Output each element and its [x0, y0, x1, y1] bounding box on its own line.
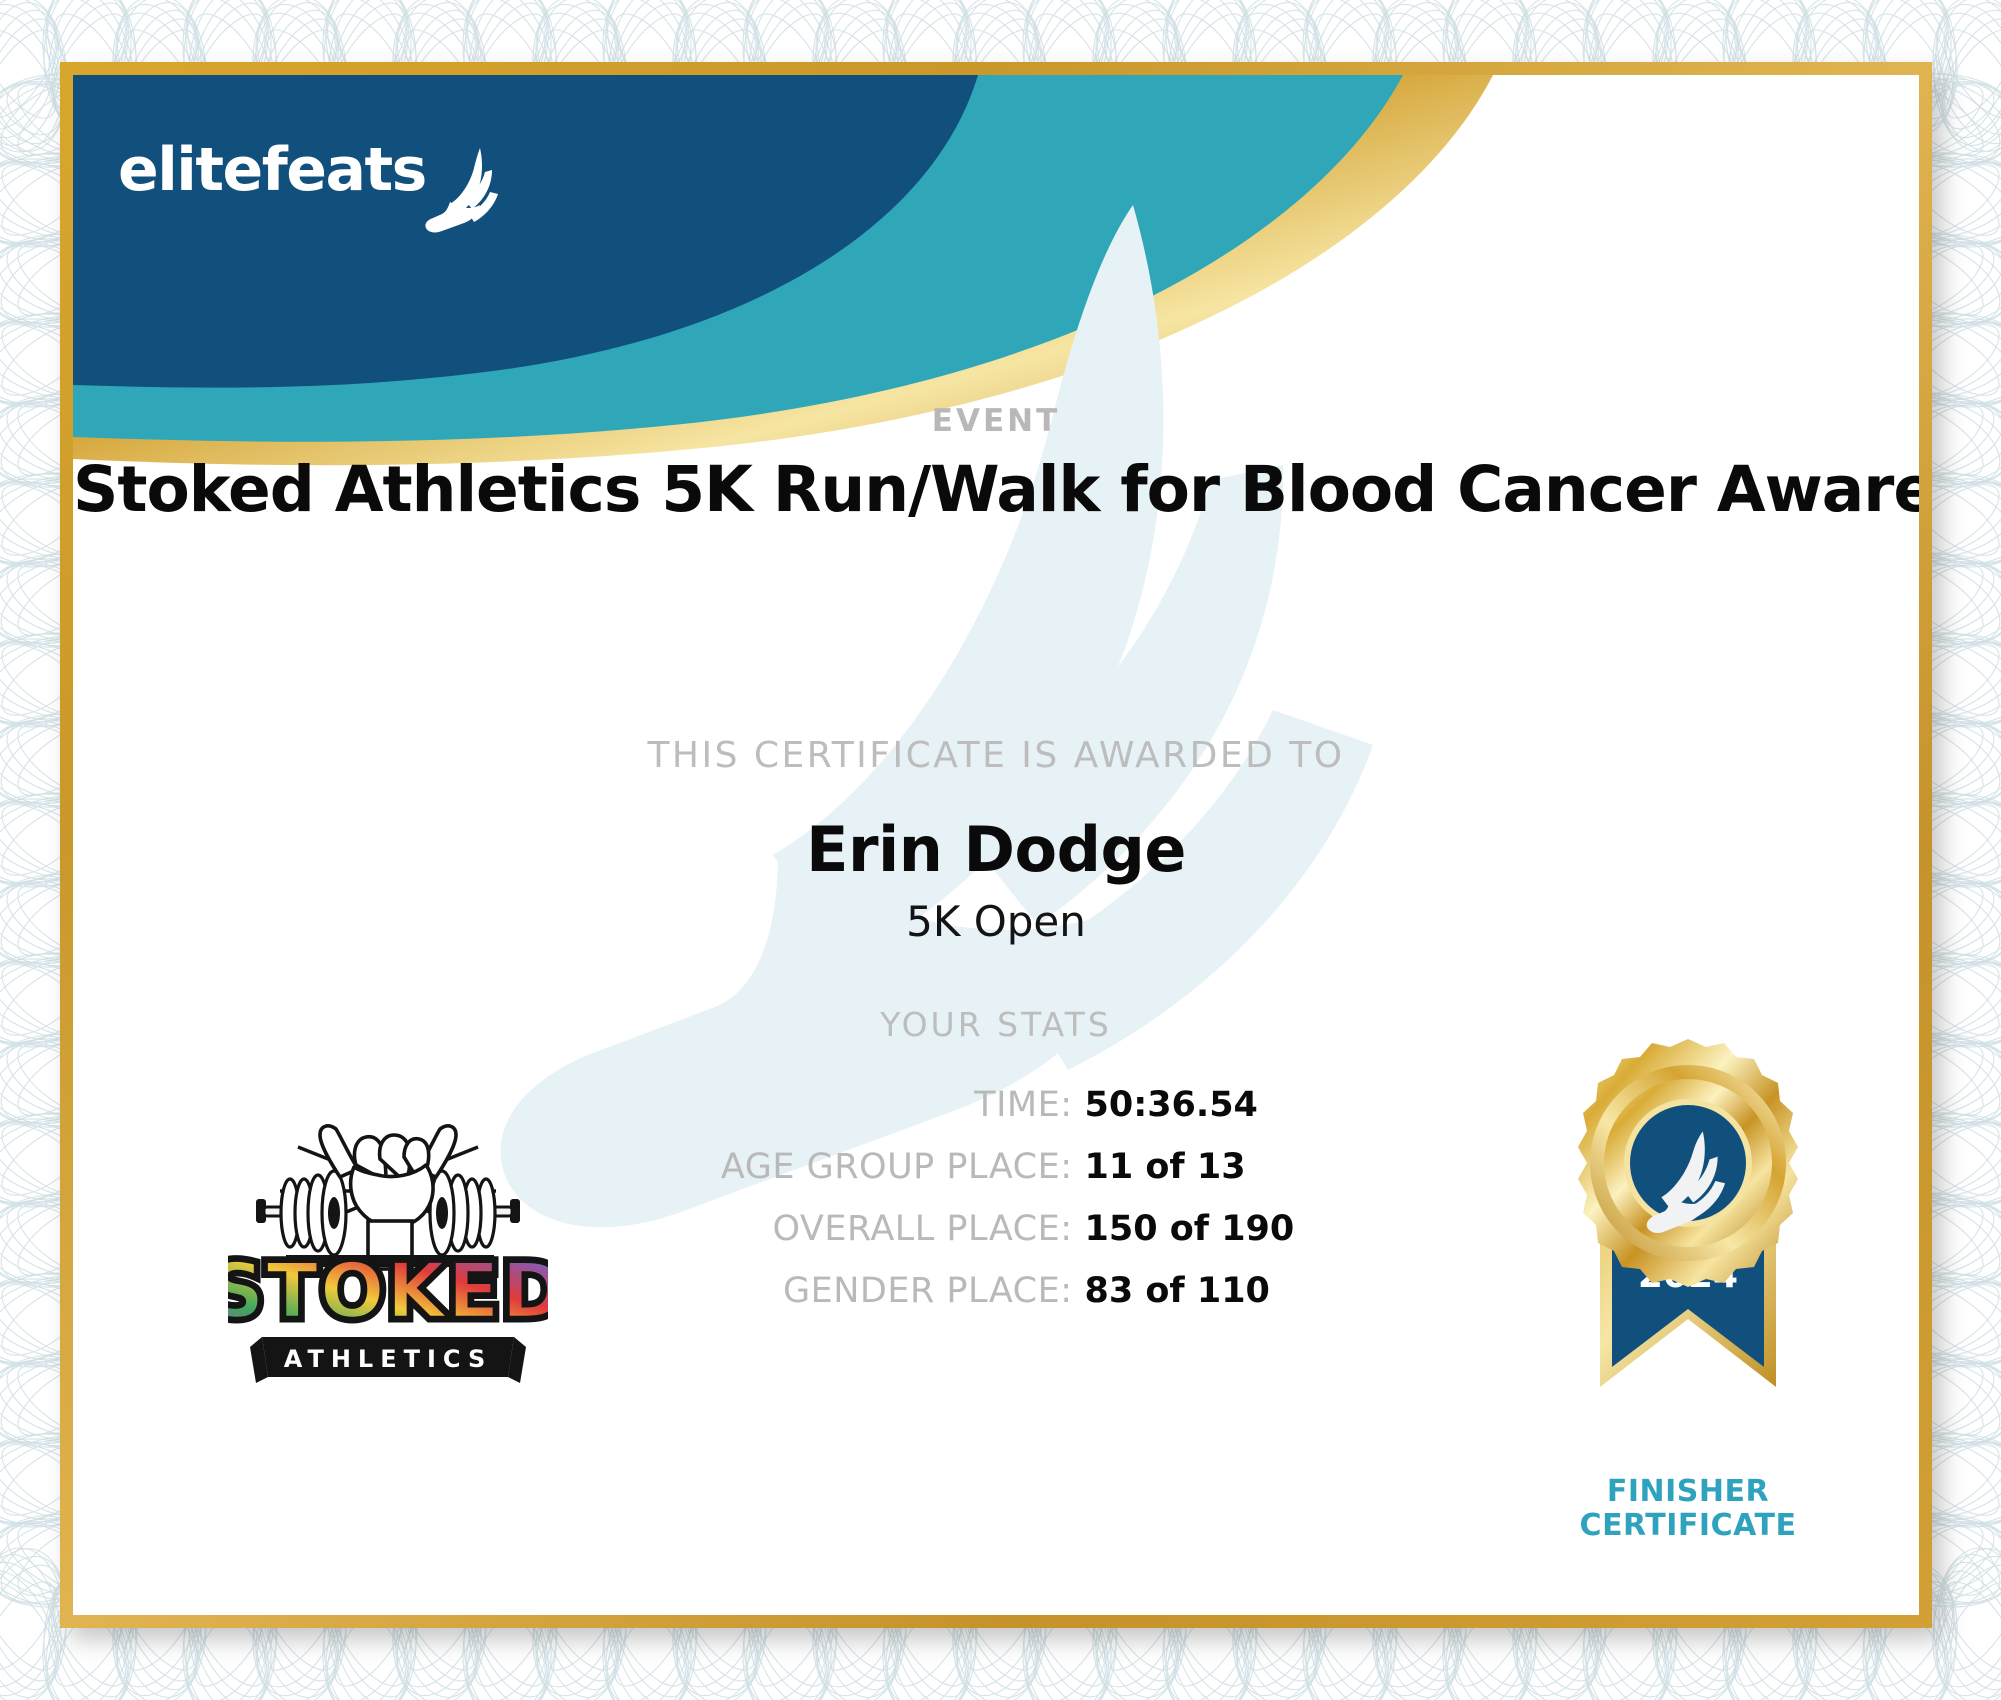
stat-label-time: TIME: [488, 1085, 1073, 1125]
awarded-to-label: THIS CERTIFICATE IS AWARDED TO [73, 735, 1919, 776]
winged-foot-icon [420, 144, 506, 236]
brand-wordmark: elitefeats [118, 140, 426, 200]
brand-logo: elitefeats [118, 140, 506, 236]
certificate-body: elitefeats [73, 75, 1919, 1615]
stat-value-time: 50:36.54 [1085, 1085, 1505, 1125]
athletics-banner: ATHLETICS [250, 1337, 526, 1383]
stoked-athletics-logo: STOKED [228, 1095, 548, 1395]
finisher-caption-line1: FINISHER [1513, 1475, 1863, 1509]
svg-text:ATHLETICS: ATHLETICS [284, 1345, 493, 1373]
finisher-medal-seal: 2024 [1538, 1037, 1838, 1457]
stat-label-overall-place: OVERALL PLACE: [488, 1209, 1073, 1249]
stat-value-age-group-place: 11 of 13 [1085, 1147, 1505, 1187]
recipient-name: Erin Dodge [73, 813, 1919, 886]
certificate-gold-frame: elitefeats [60, 62, 1932, 1628]
stat-value-gender-place: 83 of 110 [1085, 1271, 1505, 1311]
stat-label-age-group-place: AGE GROUP PLACE: [488, 1147, 1073, 1187]
event-title: Stoked Athletics 5K Run/Walk for Blood C… [73, 453, 1919, 526]
recipient-division: 5K Open [73, 897, 1919, 946]
event-label: EVENT [73, 403, 1919, 439]
certificate-page: elitefeats [0, 0, 2001, 1700]
stat-label-gender-place: GENDER PLACE: [488, 1271, 1073, 1311]
stoked-wordmark: STOKED STOKED [228, 1245, 548, 1345]
finisher-caption: FINISHER CERTIFICATE [1513, 1475, 1863, 1542]
svg-text:STOKED: STOKED [228, 1246, 548, 1335]
finisher-caption-line2: CERTIFICATE [1513, 1509, 1863, 1543]
stat-value-overall-place: 150 of 190 [1085, 1209, 1505, 1249]
